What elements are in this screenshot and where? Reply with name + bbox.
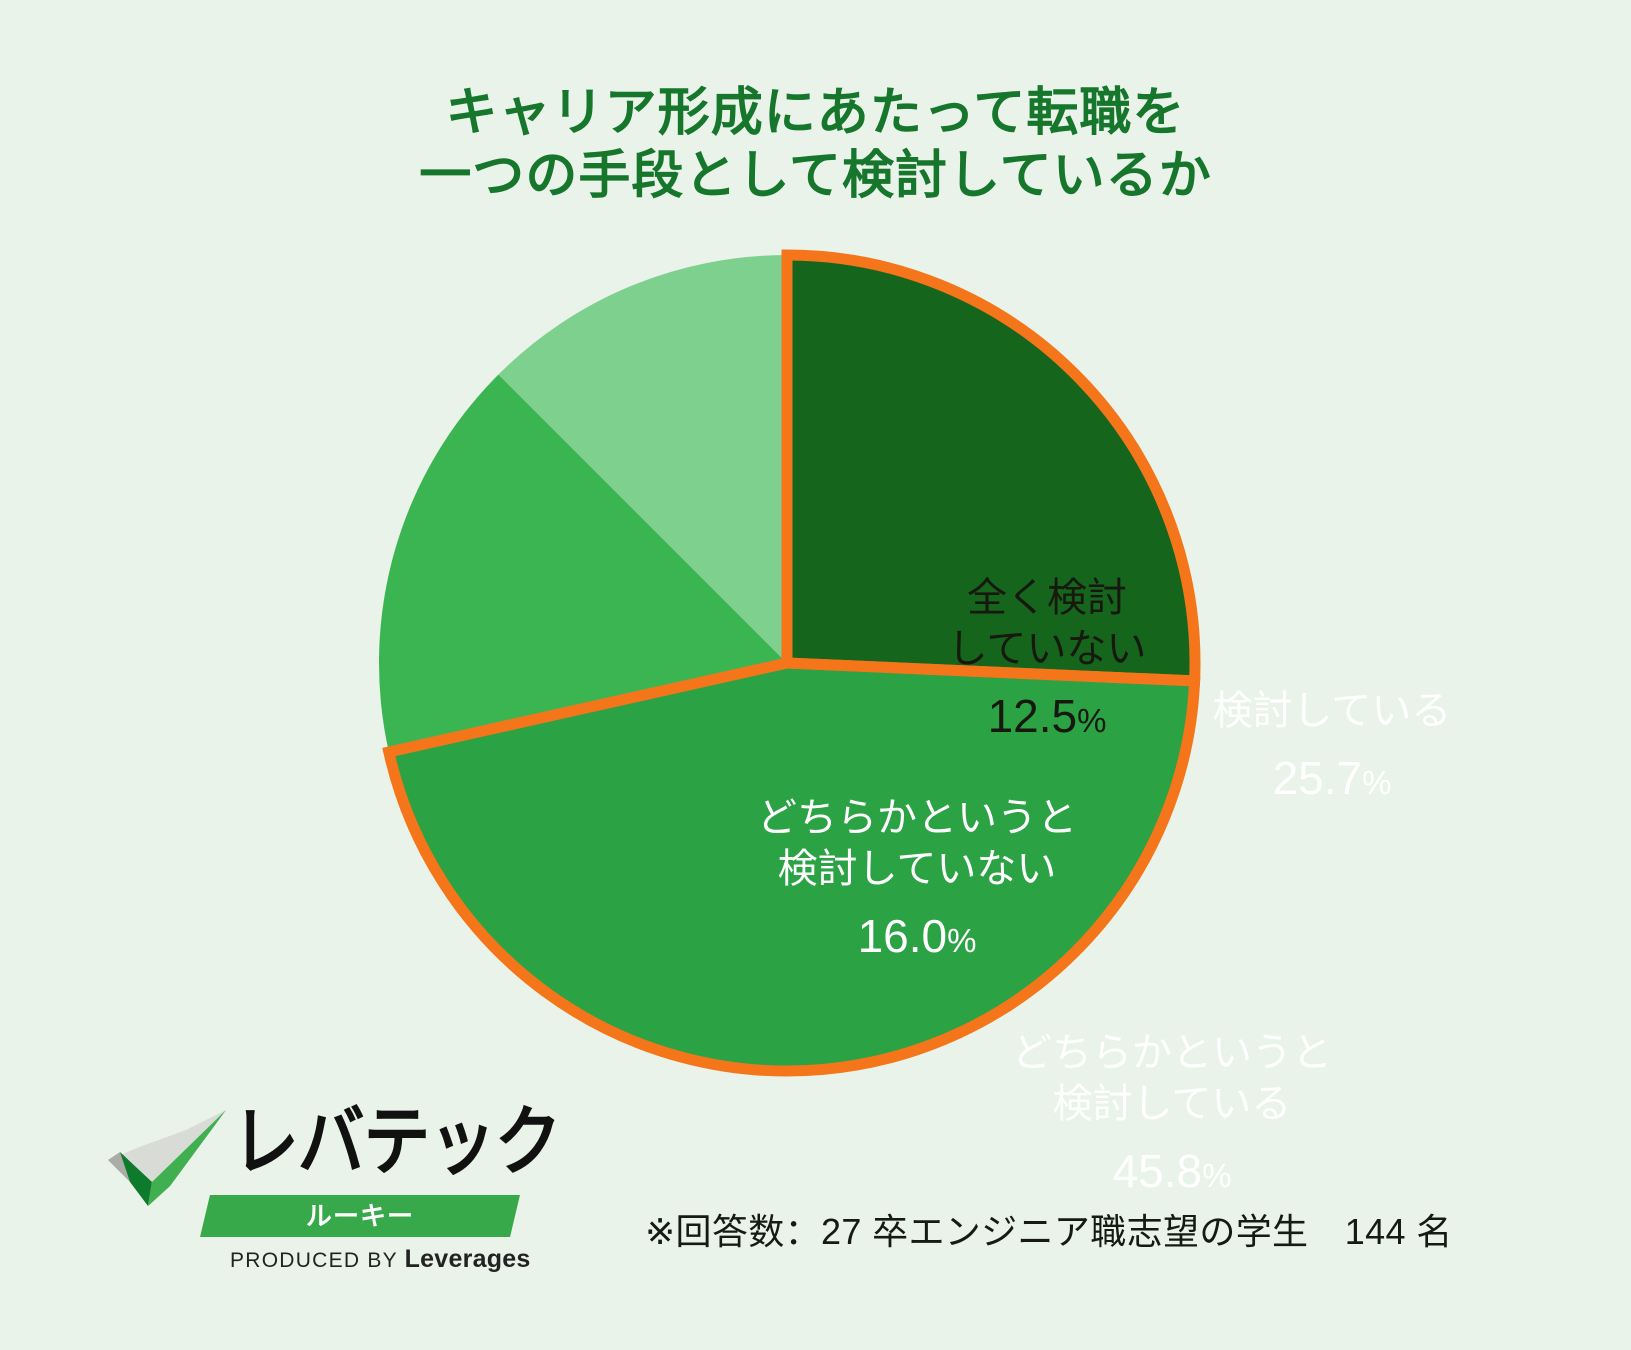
logo-wordmark: レバテック	[232, 1104, 560, 1180]
paper-plane-icon	[108, 1108, 240, 1208]
pie-label-percent: 45.8%	[992, 1142, 1352, 1201]
percent-sign: %	[1202, 1157, 1231, 1194]
logo-produced-by: PRODUCED BY Leverages	[230, 1245, 531, 1274]
footnote-response-count: ※回答数：27 卒エンジニア職志望の学生 144 名	[645, 1203, 1453, 1255]
pie-label-text-2: 検討している	[992, 1079, 1352, 1130]
page-title-line-1: キャリア形成にあたって転職を	[0, 82, 1631, 145]
logo-mark-row: レバテック	[108, 1082, 538, 1207]
pie-chart-svg	[372, 248, 1202, 1078]
logo-banner: ルーキー	[200, 1195, 520, 1237]
produced-by-brand: Leverages	[405, 1245, 531, 1273]
pie-chart: 検討している 25.7% どちらかというと 検討している 45.8% どちらかと…	[372, 248, 1202, 1078]
page-title-line-2: 一つの手段として検討しているか	[0, 145, 1631, 208]
produced-by-prefix: PRODUCED BY	[230, 1249, 398, 1272]
pie-label-percent: 25.7%	[1172, 749, 1492, 808]
brand-logo: レバテック ルーキー PRODUCED BY Leverages	[108, 1082, 538, 1262]
pie-label-kentou-shiteiru: 検討している 25.7%	[1172, 686, 1492, 808]
logo-banner-text: ルーキー	[200, 1195, 520, 1237]
pie-label-text: 検討している	[1172, 686, 1492, 737]
page-title: キャリア形成にあたって転職を 一つの手段として検討しているか	[0, 82, 1631, 209]
pie-percent-value: 45.8	[1113, 1145, 1203, 1197]
pie-slice	[787, 255, 1195, 681]
percent-sign: %	[1362, 764, 1391, 801]
pie-percent-value: 25.7	[1273, 752, 1363, 804]
